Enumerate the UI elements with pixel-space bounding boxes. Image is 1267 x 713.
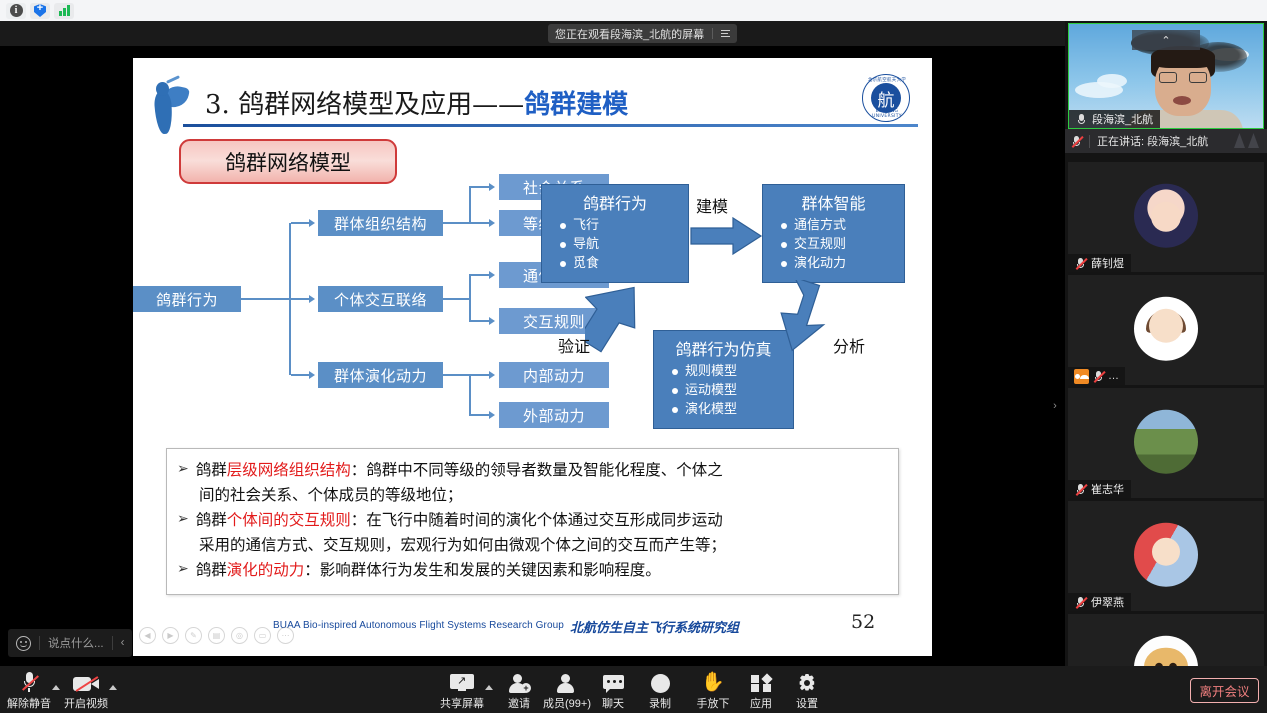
tree-connector: [469, 222, 489, 224]
mic-muted-icon: [1075, 257, 1086, 270]
unmute-label: 解除静音: [7, 695, 51, 711]
leave-meeting-button[interactable]: 离开会议: [1190, 678, 1259, 703]
participant-tile-5[interactable]: ⌄: [1068, 614, 1264, 666]
participant-badges: …: [1068, 367, 1125, 385]
participant-tile-4[interactable]: 伊翠燕: [1068, 501, 1264, 611]
slide-control-bar: ◀ ▶ ✎ ▤ ◎ ▭ ⋯: [139, 627, 294, 644]
apps-label: 应用: [750, 695, 772, 711]
start-video-button[interactable]: 开启视频: [57, 671, 115, 711]
bullet-continuation: 间的社会关系、个体成员的等级地位；: [199, 483, 463, 508]
cycle-box-behavior: 鸽群行为 飞行 导航 觅食: [541, 184, 689, 283]
audio-wave-icon: [1234, 133, 1259, 148]
cycle-item-text: 通信方式: [794, 217, 846, 236]
participant-name: 薛钊煜: [1091, 255, 1124, 271]
title-underline: [183, 124, 918, 127]
arrow-icon: [489, 271, 495, 279]
emoji-icon[interactable]: [16, 636, 31, 651]
mic-muted-icon: [1093, 370, 1104, 383]
participant-tile-2[interactable]: …: [1068, 275, 1264, 385]
participant-name: 伊翠燕: [1091, 594, 1124, 610]
invite-label: 邀请: [508, 695, 530, 711]
list-item: 演化动力: [773, 255, 894, 274]
arrow-icon: [309, 219, 315, 227]
slide-footer-english: BUAA Bio-inspired Autonomous Flight Syst…: [273, 620, 564, 631]
cycle-box-title-0: 鸽群行为: [552, 190, 678, 214]
zoom-icon[interactable]: ◎: [231, 627, 248, 644]
bullet-lead: 鸽群: [196, 511, 227, 529]
chevron-up-icon[interactable]: ⌃: [1132, 30, 1200, 50]
tree-connector: [469, 274, 489, 276]
meeting-toolbar: 解除静音 开启视频 ↗ 共享屏幕 + 邀请 成员(99: [0, 666, 1267, 713]
cycle-box-list-0: 飞行 导航 觅食: [552, 217, 678, 274]
chat-icon: [603, 671, 624, 693]
participant-nametag: 段海滨_北航: [1069, 110, 1160, 128]
video-options-caret-icon[interactable]: [109, 685, 117, 690]
list-item: 觅食: [552, 255, 678, 274]
avatar: [1134, 410, 1198, 474]
tree-connector: [291, 374, 309, 376]
slide-footer-chinese: 北航仿生自主飞行系统研究组: [570, 617, 739, 636]
participant-nametag: 薛钊煜: [1068, 254, 1131, 272]
settings-gear-icon: [797, 671, 817, 693]
raise-hand-icon: ✋: [701, 671, 725, 693]
seal-bottom-text: BEIHANG UNIVERSITY: [863, 109, 911, 119]
avatar: [1134, 184, 1198, 248]
chat-input-bar[interactable]: 说点什么... ‹: [8, 629, 132, 657]
arrow-label-validation: 验证: [558, 333, 590, 357]
presentation-slide: 3. 鸽群网络模型及应用——鸽群建模 北京航空航天大学 航 BEIHANG UN…: [133, 58, 932, 656]
arrow-icon: [489, 183, 495, 191]
participant-tile-3[interactable]: 崔志华: [1068, 388, 1264, 498]
settings-label: 设置: [796, 695, 818, 711]
more-icon[interactable]: …: [1108, 370, 1119, 382]
lock-icon[interactable]: ▤: [208, 627, 225, 644]
bullet-continuation: 采用的通信方式、交互规则，宏观行为如何由微观个体之间的交互而产生等；: [199, 533, 726, 558]
note-icon[interactable]: ▭: [254, 627, 271, 644]
bullet-rest: ：在飞行中随着时间的演化个体通过交互形成同步运动: [351, 511, 723, 529]
bullet-row-1: ➢ 鸽群个体间的交互规则：在飞行中随着时间的演化个体通过交互形成同步运动: [177, 508, 886, 533]
participant-tile-speaker[interactable]: ⌃ 段海滨_北航: [1068, 23, 1264, 129]
arrow-icon: [309, 371, 315, 379]
participants-icon: [556, 671, 578, 693]
list-item: 运动模型: [664, 382, 783, 401]
more-icon[interactable]: ⋯: [277, 627, 294, 644]
bullet-highlight: 层级网络组织结构: [227, 461, 351, 479]
mic-muted-icon: [1071, 135, 1082, 148]
seal-top-text: 北京航空航天大学: [863, 77, 911, 83]
tree-connector: [469, 186, 471, 224]
mic-muted-icon: [1075, 596, 1086, 609]
tree-connector: [241, 298, 289, 300]
bullet-row-0-cont: 间的社会关系、个体成员的等级地位；: [177, 483, 886, 508]
cycle-item-text: 导航: [573, 236, 599, 255]
bullet-text-1: 鸽群个体间的交互规则：在飞行中随着时间的演化个体通过交互形成同步运动: [196, 508, 723, 533]
bullet-rest: ：鸽群中不同等级的领导者数量及智能化程度、个体之: [351, 461, 723, 479]
tree-connector: [443, 298, 469, 300]
participant-name: 段海滨_北航: [1092, 111, 1153, 127]
glasses: [1159, 72, 1207, 83]
signal-bars-icon[interactable]: [54, 3, 74, 19]
apps-icon: [751, 671, 771, 693]
participant-rail[interactable]: ⌃ 段海滨_北航 正在讲话: 段海滨_北航 薛钊煜: [1065, 21, 1267, 666]
info-icon[interactable]: i: [6, 3, 26, 19]
list-item: 导航: [552, 236, 678, 255]
host-icon: [1074, 369, 1089, 384]
settings-button[interactable]: 设置: [778, 671, 836, 711]
bullet-highlight: 个体间的交互规则: [227, 511, 351, 529]
bullet-row-1-cont: 采用的通信方式、交互规则，宏观行为如何由微观个体之间的交互而产生等；: [177, 533, 886, 558]
arrow-icon: [489, 219, 495, 227]
arrow-label-analysis: 分析: [833, 333, 865, 357]
shield-icon[interactable]: [30, 3, 50, 19]
participant-tile-1[interactable]: 薛钊煜: [1068, 162, 1264, 272]
tree-branch-box-2: 群体演化动力: [318, 362, 443, 388]
model-title-box: 鸽群网络模型: [179, 139, 397, 184]
share-screen-button[interactable]: ↗ 共享屏幕: [433, 671, 491, 711]
prev-icon[interactable]: ◀: [139, 627, 156, 644]
bullet-lead: 鸽群: [196, 461, 227, 479]
shared-screen-stage: 3. 鸽群网络模型及应用——鸽群建模 北京航空航天大学 航 BEIHANG UN…: [0, 46, 1065, 666]
record-icon: [651, 671, 670, 693]
mic-muted-icon: [22, 671, 37, 693]
hamburger-icon[interactable]: [721, 30, 730, 37]
record-label: 录制: [649, 695, 671, 711]
arrow-icon: [309, 295, 315, 303]
speaking-indicator-bar: 正在讲话: 段海滨_北航: [1065, 129, 1267, 153]
bullet-marker: ➢: [177, 458, 189, 483]
bullet-marker: ➢: [177, 508, 189, 533]
bullet-row-0: ➢ 鸽群层级网络组织结构：鸽群中不同等级的领导者数量及智能化程度、个体之: [177, 458, 886, 483]
next-icon[interactable]: ▶: [162, 627, 179, 644]
chevron-right-icon[interactable]: ›: [1049, 386, 1061, 426]
cycle-item-text: 交互规则: [794, 236, 846, 255]
list-item: 飞行: [552, 217, 678, 236]
speaking-text: 正在讲话: 段海滨_北航: [1097, 133, 1208, 149]
tree-branch-box-0: 群体组织结构: [318, 210, 443, 236]
list-item: 交互规则: [773, 236, 894, 255]
tree-connector: [443, 222, 469, 224]
cycle-item-text: 演化动力: [794, 255, 846, 274]
tree-connector: [469, 274, 471, 322]
tree-branch-box-1: 个体交互联络: [318, 286, 443, 312]
unmute-button[interactable]: 解除静音: [0, 671, 58, 711]
tree-connector: [469, 186, 489, 188]
start-video-label: 开启视频: [64, 695, 108, 711]
invite-icon: +: [508, 671, 530, 693]
slide-page-number: 52: [851, 611, 875, 633]
chat-label: 聊天: [602, 695, 624, 711]
cycle-box-list-2: 规则模型 运动模型 演化模型: [664, 363, 783, 420]
cycle-box-title-2: 鸽群行为仿真: [664, 336, 783, 360]
tree-connector: [291, 222, 309, 224]
tree-connector: [469, 374, 489, 376]
tree-connector: [469, 414, 489, 416]
tree-leaf-box-2-1: 外部动力: [499, 402, 609, 428]
avatar: [1134, 297, 1198, 361]
participant-name: 崔志华: [1091, 481, 1124, 497]
university-seal-icon: 北京航空航天大学 航 BEIHANG UNIVERSITY: [862, 74, 910, 122]
os-taskbar: i: [0, 0, 1267, 21]
tree-connector: [443, 374, 469, 376]
bullet-lead: 鸽群: [196, 561, 227, 579]
arrow-icon: [489, 317, 495, 325]
meeting-window: i 您正在观看段海滨_北航的屏幕 57:59 演讲者视图: [0, 0, 1267, 713]
cycle-box-title-1: 群体智能: [773, 190, 894, 214]
chat-placeholder[interactable]: 说点什么...: [48, 635, 104, 651]
arrow-icon: [489, 411, 495, 419]
bullet-marker: ➢: [177, 558, 189, 583]
lower-hand-label: 手放下: [697, 695, 730, 711]
share-screen-label: 共享屏幕: [440, 695, 484, 711]
cycle-item-text: 演化模型: [685, 401, 737, 420]
list-item: 规则模型: [664, 363, 783, 382]
tree-connector: [469, 374, 471, 416]
cycle-box-list-1: 通信方式 交互规则 演化动力: [773, 217, 894, 274]
participant-nametag: 崔志华: [1068, 480, 1131, 498]
mic-icon: [1076, 113, 1087, 126]
list-item: 演化模型: [664, 401, 783, 420]
cycle-box-swarm-intelligence: 群体智能 通信方式 交互规则 演化动力: [762, 184, 905, 283]
bullet-panel: ➢ 鸽群层级网络组织结构：鸽群中不同等级的领导者数量及智能化程度、个体之 间的社…: [166, 448, 899, 595]
bullet-rest: ：影响群体行为发生和发展的关键因素和影响程度。: [304, 561, 661, 579]
watching-notice-text: 您正在观看段海滨_北航的屏幕: [555, 26, 704, 42]
cycle-item-text: 觅食: [573, 255, 599, 274]
slide-title-accent: 鸽群建模: [524, 90, 628, 120]
tree-root-box: 鸽群行为: [133, 286, 241, 312]
validation-arrow-icon: [585, 280, 665, 362]
cycle-item-text: 规则模型: [685, 363, 737, 382]
chevron-left-icon[interactable]: ‹: [121, 637, 125, 649]
arrow-label-modeling: 建模: [696, 193, 728, 217]
list-item: 通信方式: [773, 217, 894, 236]
modeling-arrow-icon: [689, 216, 765, 256]
pen-icon[interactable]: ✎: [185, 627, 202, 644]
participant-nametag: 伊翠燕: [1068, 593, 1131, 611]
slide-title-main: 3. 鸽群网络模型及应用——: [205, 90, 524, 120]
share-screen-icon: ↗: [450, 671, 474, 693]
tree-leaf-box-2-0: 内部动力: [499, 362, 609, 388]
bullet-text-2: 鸽群演化的动力：影响群体行为发生和发展的关键因素和影响程度。: [196, 558, 661, 583]
record-button[interactable]: 录制: [631, 671, 689, 711]
camera-off-icon: [73, 671, 99, 693]
tree-connector: [291, 298, 309, 300]
slide-title: 3. 鸽群网络模型及应用——鸽群建模: [205, 84, 628, 121]
cycle-item-text: 飞行: [573, 217, 599, 236]
bullet-row-2: ➢ 鸽群演化的动力：影响群体行为发生和发展的关键因素和影响程度。: [177, 558, 886, 583]
arrow-icon: [489, 371, 495, 379]
tree-connector: [469, 320, 489, 322]
avatar: [1134, 523, 1198, 587]
screen-share-notice: 您正在观看段海滨_北航的屏幕: [548, 24, 737, 43]
bullet-text-0: 鸽群层级网络组织结构：鸽群中不同等级的领导者数量及智能化程度、个体之: [196, 458, 723, 483]
cycle-item-text: 运动模型: [685, 382, 737, 401]
avatar: [1134, 636, 1198, 666]
mic-muted-icon: [1075, 483, 1086, 496]
bullet-highlight: 演化的动力: [227, 561, 305, 579]
